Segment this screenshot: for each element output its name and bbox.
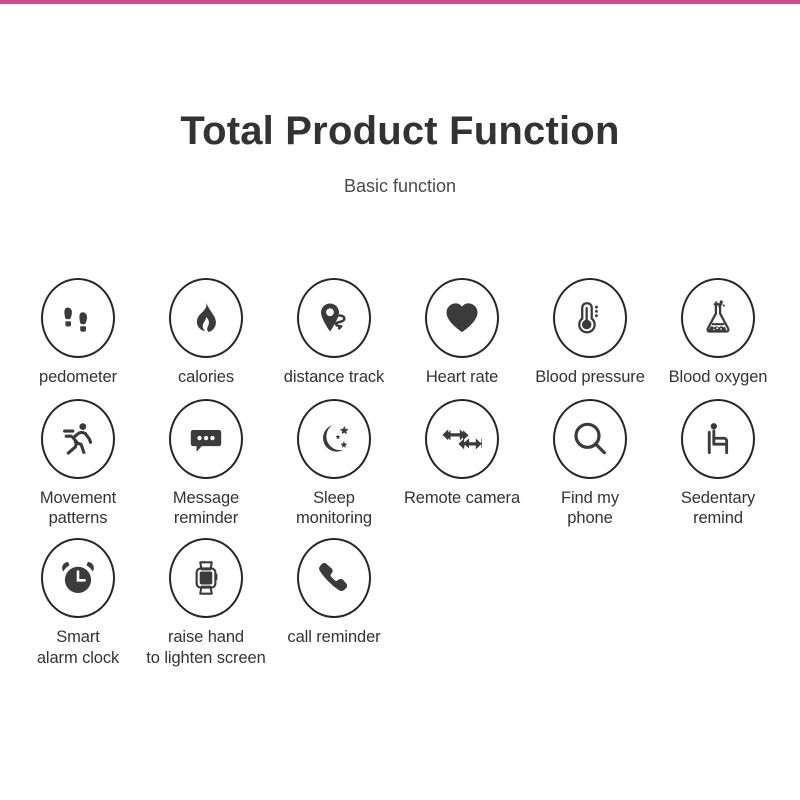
footprints-icon — [58, 298, 98, 338]
page-title: Total Product Function — [0, 108, 800, 154]
top-accent-bar — [0, 0, 800, 4]
feature-label: calories — [178, 367, 234, 387]
seated-person-icon — [699, 420, 737, 458]
heart-icon — [442, 298, 482, 338]
feature-item-find-my-phone[interactable]: Find my phone — [526, 399, 654, 528]
speech-bubble-icon — [187, 420, 225, 458]
running-person-icon — [58, 419, 98, 459]
feature-badge — [41, 278, 115, 358]
feature-item-heart-rate[interactable]: Heart rate — [398, 278, 526, 387]
alarm-clock-icon — [59, 559, 97, 597]
feature-item-pedometer[interactable]: pedometer — [14, 278, 142, 387]
feature-item-smart-alarm-clock[interactable]: Smart alarm clock — [14, 538, 142, 667]
feature-badge — [681, 278, 755, 358]
feature-badge — [169, 538, 243, 618]
feature-label: Message reminder — [173, 488, 239, 528]
feature-label: Sleep monitoring — [296, 488, 372, 528]
feature-label: pedometer — [39, 367, 117, 387]
feature-label: distance track — [284, 367, 384, 387]
thermometer-icon — [571, 299, 609, 337]
feature-label: raise hand to lighten screen — [146, 627, 265, 667]
map-pin-route-icon — [314, 298, 354, 338]
feature-item-remote-camera[interactable]: Remote camera — [398, 399, 526, 508]
feature-badge — [169, 399, 243, 479]
feature-item-blood-oxygen[interactable]: Blood oxygen — [654, 278, 782, 387]
feature-label: Remote camera — [404, 488, 520, 508]
feature-row: Smart alarm clock raise hand to lighten … — [14, 538, 786, 667]
feature-row: Movement patterns Message reminder — [14, 399, 786, 528]
feature-badge — [169, 278, 243, 358]
magnifier-icon — [570, 419, 610, 459]
feature-badge — [297, 278, 371, 358]
feature-badge — [425, 399, 499, 479]
feature-label: Movement patterns — [40, 488, 116, 528]
feature-label: call reminder — [287, 627, 380, 647]
feature-label: Blood pressure — [535, 367, 645, 387]
feature-badge — [41, 538, 115, 618]
feature-item-blood-pressure[interactable]: Blood pressure — [526, 278, 654, 387]
phone-handset-icon — [316, 560, 352, 596]
feature-label: Sedentary remind — [681, 488, 755, 528]
feature-badge — [297, 538, 371, 618]
flask-icon — [699, 299, 737, 337]
feature-label: Blood oxygen — [669, 367, 768, 387]
feature-label: Find my phone — [561, 488, 619, 528]
feature-badge — [681, 399, 755, 479]
double-arrow-icon — [442, 419, 482, 459]
moon-stars-icon — [315, 420, 353, 458]
feature-item-call-reminder[interactable]: call reminder — [270, 538, 398, 647]
feature-row: pedometer calories — [14, 278, 786, 387]
feature-item-calories[interactable]: calories — [142, 278, 270, 387]
feature-item-movement-patterns[interactable]: Movement patterns — [14, 399, 142, 528]
page-subtitle: Basic function — [0, 176, 800, 198]
smartwatch-icon — [188, 559, 224, 597]
feature-item-sleep-monitoring[interactable]: Sleep monitoring — [270, 399, 398, 528]
feature-badge — [425, 278, 499, 358]
flame-icon — [187, 299, 225, 337]
feature-badge — [41, 399, 115, 479]
feature-item-message-reminder[interactable]: Message reminder — [142, 399, 270, 528]
feature-item-raise-hand-to-lighten-screen[interactable]: raise hand to lighten screen — [142, 538, 270, 667]
feature-badge — [553, 399, 627, 479]
feature-grid: pedometer calories — [14, 278, 786, 668]
page-header: Total Product Function Basic function — [0, 108, 800, 198]
feature-label: Heart rate — [426, 367, 498, 387]
feature-item-sedentary-remind[interactable]: Sedentary remind — [654, 399, 782, 528]
feature-badge — [553, 278, 627, 358]
feature-label: Smart alarm clock — [37, 627, 119, 667]
feature-badge — [297, 399, 371, 479]
feature-item-distance-track[interactable]: distance track — [270, 278, 398, 387]
